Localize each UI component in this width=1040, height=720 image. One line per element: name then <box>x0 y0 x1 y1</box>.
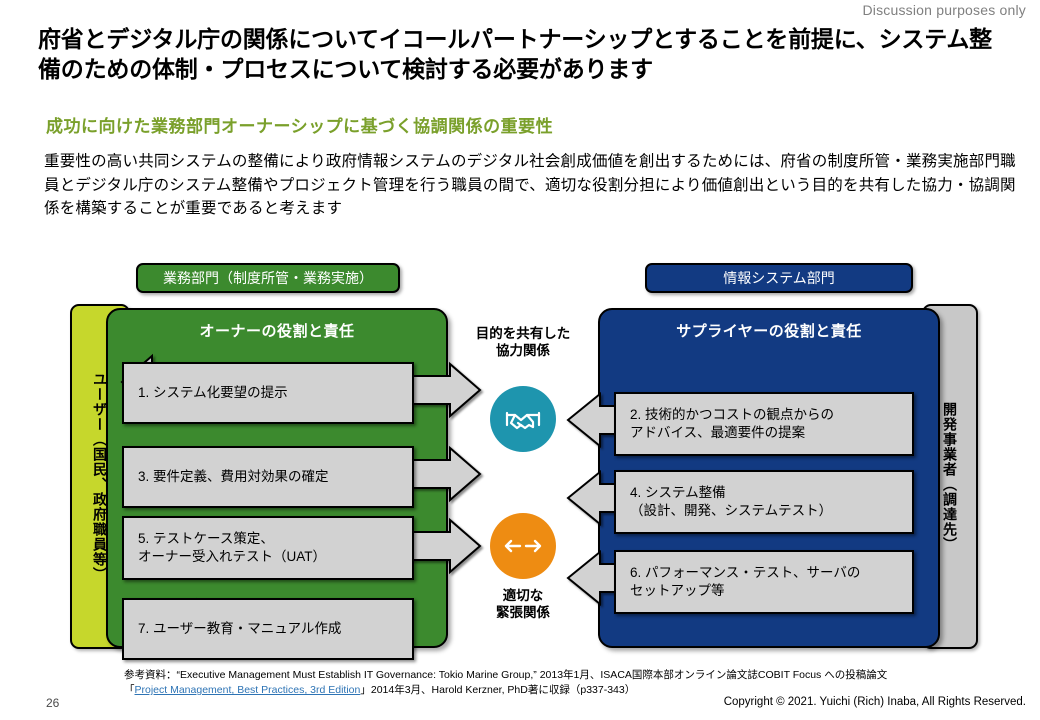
supplier-task-6-label: 6. パフォーマンス・テスト、サーバの セットアップ等 <box>616 564 860 600</box>
discussion-note: Discussion purposes only <box>862 2 1026 18</box>
handshake-glyph <box>503 399 543 439</box>
slide-root: Discussion purposes only 府省とデジタル庁の関係について… <box>0 0 1040 720</box>
handshake-icon <box>490 386 556 452</box>
owner-task-3-label: 3. 要件定義、費用対効果の確定 <box>124 468 329 486</box>
tag-business-department: 業務部門（制度所管・業務実施） <box>136 263 400 293</box>
owner-task-3: 3. 要件定義、費用対効果の確定 <box>122 446 414 508</box>
page-number: 26 <box>46 696 59 710</box>
supplier-panel-title: サプライヤーの役割と責任 <box>600 320 938 341</box>
center-caption-cooperation: 目的を共有した 協力関係 <box>448 326 598 360</box>
footnote-line-1: 参考資料：“Executive Management Must Establis… <box>124 668 954 683</box>
footnote-link[interactable]: Project Management, Best Practices, 3rd … <box>135 684 361 696</box>
bidirectional-arrows-icon <box>490 513 556 579</box>
owner-task-1-label: 1. システム化要望の提示 <box>124 384 288 402</box>
owner-task-7-label: 7. ユーザー教育・マニュアル作成 <box>124 620 341 638</box>
owner-task-5: 5. テストケース策定、 オーナー受入れテスト（UAT） <box>122 516 414 580</box>
owner-task-1: 1. システム化要望の提示 <box>122 362 414 424</box>
relationship-diagram: 業務部門（制度所管・業務実施） 情報システム部門 ユーザー（国民、政府職員等） … <box>0 258 1040 658</box>
body-paragraph: 重要性の高い共同システムの整備により政府情報システムのデジタル社会創成価値を創出… <box>44 150 1019 221</box>
center-caption-tension: 適切な 緊張関係 <box>448 588 598 622</box>
section-subtitle: 成功に向けた業務部門オーナーシップに基づく協調関係の重要性 <box>46 112 553 137</box>
tension-arrows-glyph <box>501 533 545 559</box>
copyright-notice: Copyright © 2021. Yuichi (Rich) Inaba, A… <box>724 696 1026 708</box>
page-title: 府省とデジタル庁の関係についてイコールパートナーシップとすることを前提に、システ… <box>38 24 1013 85</box>
supplier-task-4-label: 4. システム整備 （設計、開発、システムテスト） <box>616 484 832 520</box>
owner-panel-title: オーナーの役割と責任 <box>108 320 446 341</box>
supplier-task-2-label: 2. 技術的かつコストの観点からの アドバイス、最適要件の提案 <box>616 406 834 442</box>
supplier-task-6: 6. パフォーマンス・テスト、サーバの セットアップ等 <box>614 550 914 614</box>
footnote-quote-open: 「 <box>124 684 135 696</box>
owner-task-5-label: 5. テストケース策定、 オーナー受入れテスト（UAT） <box>124 530 326 566</box>
tag-information-system-department: 情報システム部門 <box>645 263 913 293</box>
footnote-block: 参考資料：“Executive Management Must Establis… <box>124 668 954 698</box>
supplier-task-4: 4. システム整備 （設計、開発、システムテスト） <box>614 470 914 534</box>
footnote-line-2-suffix: 」2014年3月、Harold Kerzner, PhD著に収録（p337-34… <box>360 684 635 696</box>
supplier-task-2: 2. 技術的かつコストの観点からの アドバイス、最適要件の提案 <box>614 392 914 456</box>
owner-task-7: 7. ユーザー教育・マニュアル作成 <box>122 598 414 660</box>
